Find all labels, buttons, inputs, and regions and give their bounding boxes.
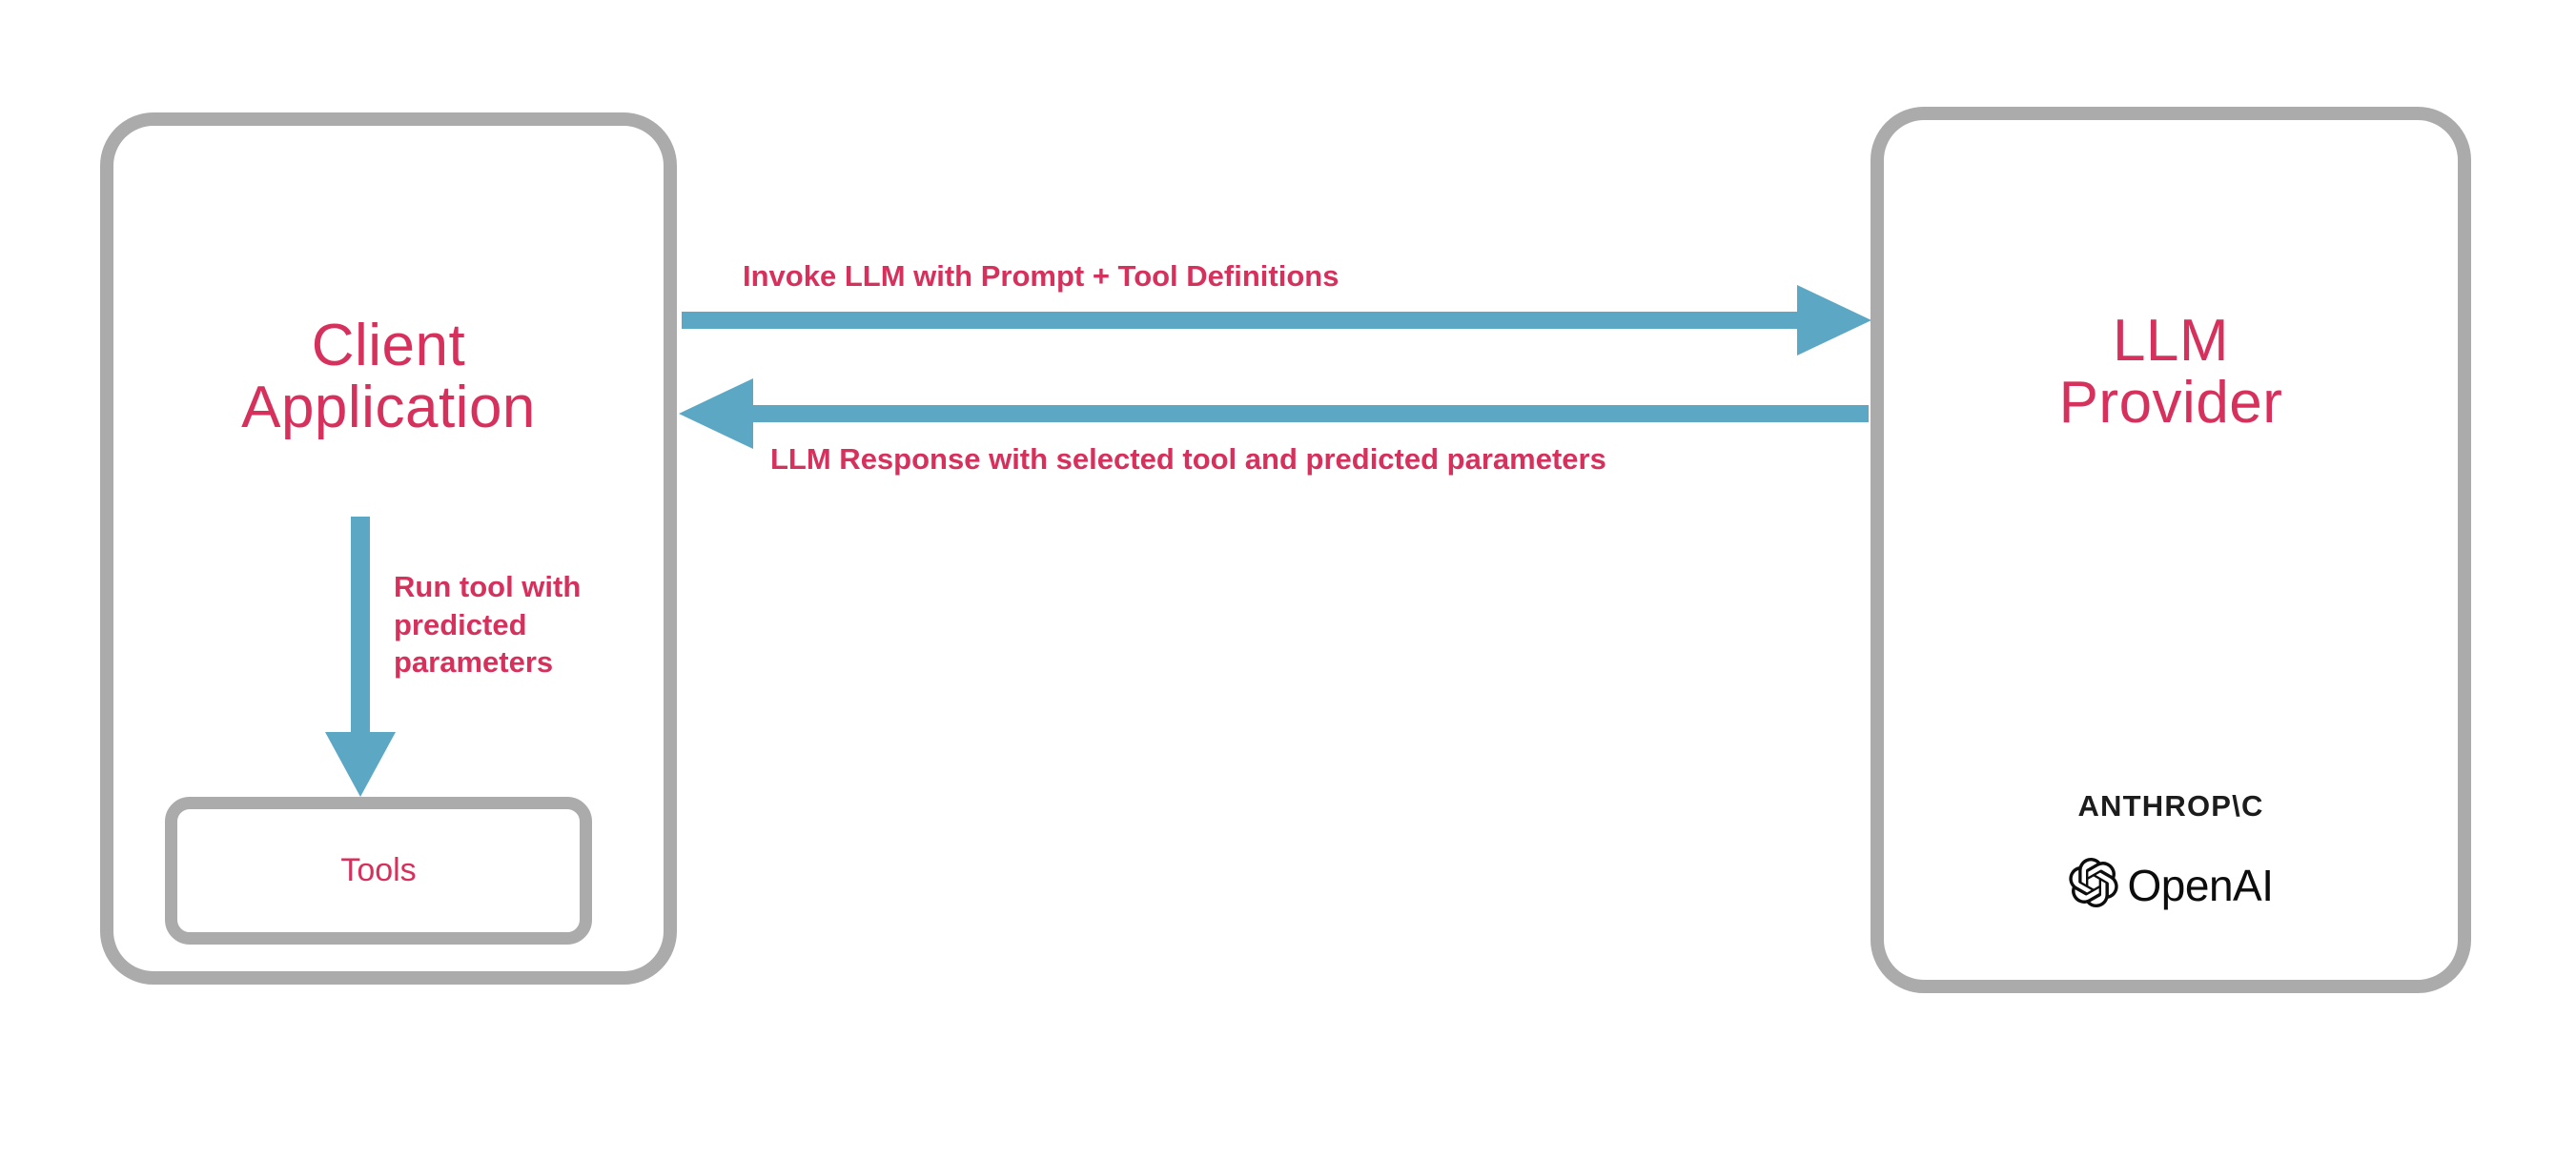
edge-label-invoke: Invoke LLM with Prompt + Tool Definition… (743, 257, 1339, 295)
edge-label-run-tool: Run tool with predicted parameters (394, 568, 651, 681)
llm-provider-title: LLM Provider (1871, 310, 2471, 434)
llm-provider-title-line1: LLM (1871, 310, 2471, 372)
tools-box: Tools (165, 797, 592, 945)
openai-mark-icon (2069, 858, 2118, 912)
tools-label: Tools (340, 852, 416, 889)
client-application-title-line1: Client (100, 315, 677, 376)
client-application-title: Client Application (100, 315, 677, 438)
llm-provider-title-line2: Provider (1871, 372, 2471, 434)
openai-logo: OpenAI (1871, 858, 2471, 912)
anthropic-logo: ANTHROP\C (1871, 789, 2471, 823)
arrow-response-left (679, 378, 1869, 449)
diagram-canvas: Client Application Tools LLM Provider AN… (0, 0, 2576, 1159)
client-application-title-line2: Application (100, 376, 677, 438)
openai-wordmark: OpenAI (2128, 860, 2274, 911)
arrow-invoke-right (682, 285, 1871, 356)
edge-label-response: LLM Response with selected tool and pred… (770, 440, 1606, 478)
